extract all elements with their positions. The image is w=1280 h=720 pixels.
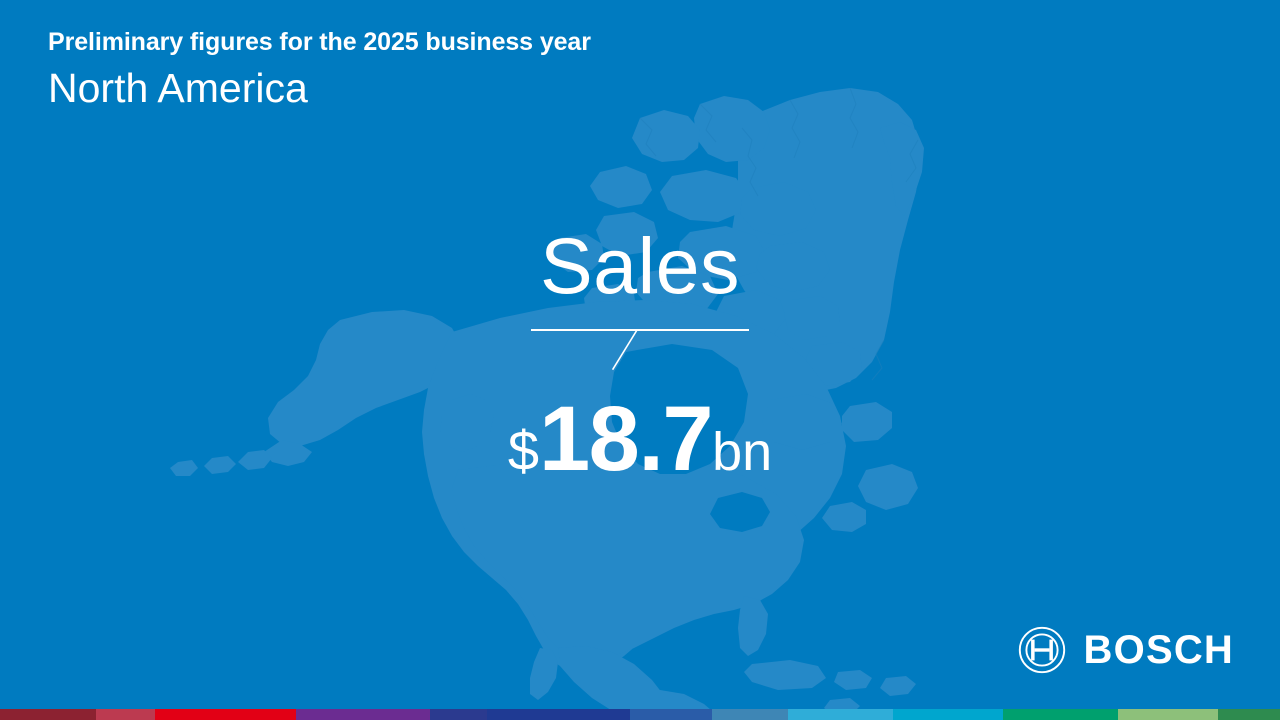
supergraphic-segment-crimson <box>96 709 155 720</box>
page-title: North America <box>48 68 591 109</box>
bosch-wordmark: BOSCH <box>1084 630 1234 670</box>
eyebrow-text: Preliminary figures for the 2025 busines… <box>48 30 591 55</box>
kpi-block: Sales $18.7bn <box>0 226 1280 485</box>
bosch-armature-icon <box>1018 626 1066 674</box>
bosch-supergraphic-bar <box>0 709 1280 720</box>
supergraphic-segment-dark-green <box>1218 709 1280 720</box>
kpi-number: 18.7 <box>539 388 712 490</box>
slide-header: Preliminary figures for the 2025 busines… <box>48 30 591 109</box>
supergraphic-segment-purple <box>296 709 430 720</box>
supergraphic-segment-dark-maroon <box>0 709 96 720</box>
supergraphic-segment-light-green <box>1118 709 1218 720</box>
supergraphic-segment-steel-blue <box>712 709 788 720</box>
supergraphic-segment-navy <box>487 709 630 720</box>
slash-divider-icon <box>531 329 749 375</box>
supergraphic-segment-sky-blue <box>788 709 893 720</box>
supergraphic-segment-red <box>155 709 296 720</box>
kpi-value: $18.7bn <box>0 393 1280 485</box>
bosch-logo: BOSCH <box>1018 626 1234 674</box>
kpi-currency-symbol: $ <box>508 419 539 482</box>
kpi-label: Sales <box>0 226 1280 305</box>
supergraphic-segment-cyan <box>893 709 1003 720</box>
presentation-slide: Preliminary figures for the 2025 busines… <box>0 0 1280 720</box>
supergraphic-segment-teal-green <box>1003 709 1118 720</box>
supergraphic-segment-royal-blue <box>630 709 711 720</box>
supergraphic-segment-indigo <box>430 709 487 720</box>
divider-slash <box>531 329 749 375</box>
kpi-unit: bn <box>712 422 772 482</box>
